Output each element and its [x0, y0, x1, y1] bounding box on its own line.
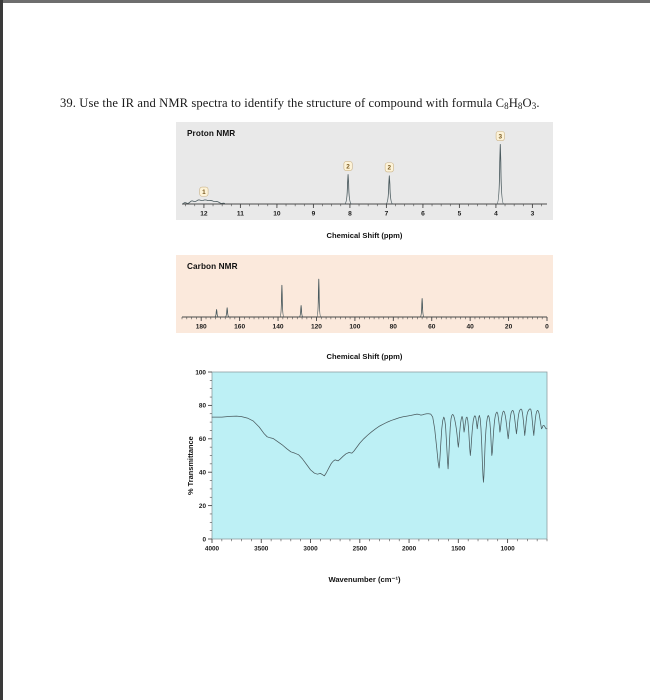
svg-text:8: 8 — [348, 211, 352, 218]
page-edge-top — [0, 0, 650, 3]
ir-yaxis-label: % Transmittance — [186, 436, 195, 495]
svg-text:1000: 1000 — [500, 546, 515, 553]
svg-text:80: 80 — [199, 403, 207, 410]
carbon-nmr-panel: Carbon NMR 180160140120100806040200 — [176, 255, 553, 333]
svg-text:40: 40 — [466, 324, 474, 331]
page-edge-left — [0, 0, 3, 700]
svg-text:11: 11 — [237, 211, 244, 218]
formula-element-h: H — [509, 96, 518, 110]
svg-text:120: 120 — [311, 324, 322, 331]
svg-text:2000: 2000 — [402, 546, 417, 553]
formula-element-c: C — [496, 96, 505, 110]
svg-text:1: 1 — [202, 189, 206, 196]
carbon-xaxis-label: Chemical Shift (ppm) — [176, 352, 553, 361]
proton-nmr-title: Proton NMR — [187, 129, 235, 138]
svg-text:10: 10 — [273, 211, 281, 218]
question-text: Use the IR and NMR spectra to identify t… — [79, 96, 492, 110]
svg-text:80: 80 — [390, 324, 398, 331]
svg-text:60: 60 — [428, 324, 436, 331]
svg-text:7: 7 — [385, 211, 389, 218]
question-number: 39. — [60, 96, 76, 110]
svg-text:60: 60 — [199, 436, 207, 443]
svg-text:4000: 4000 — [205, 546, 220, 553]
svg-text:140: 140 — [273, 324, 284, 331]
svg-text:100: 100 — [195, 369, 206, 376]
formula-element-o: O — [523, 96, 532, 110]
svg-text:20: 20 — [199, 503, 207, 510]
svg-text:6: 6 — [421, 211, 425, 218]
svg-text:3: 3 — [498, 133, 502, 140]
svg-text:0: 0 — [545, 324, 549, 331]
svg-text:4: 4 — [494, 211, 498, 218]
svg-text:1500: 1500 — [451, 546, 466, 553]
ir-spectrum-panel: 0204060801004000350030002500200015001000 — [176, 366, 553, 565]
svg-text:3: 3 — [531, 211, 535, 218]
svg-text:3000: 3000 — [303, 546, 318, 553]
question-prompt: 39. Use the IR and NMR spectra to identi… — [60, 96, 640, 111]
svg-text:9: 9 — [312, 211, 316, 218]
svg-text:180: 180 — [196, 324, 207, 331]
svg-text:2: 2 — [346, 163, 350, 170]
svg-text:160: 160 — [234, 324, 245, 331]
question-period: . — [536, 96, 539, 110]
svg-text:3500: 3500 — [254, 546, 269, 553]
svg-text:5: 5 — [458, 211, 462, 218]
proton-xaxis-label: Chemical Shift (ppm) — [176, 231, 553, 240]
molecular-formula: C8H8O3 — [496, 96, 537, 110]
svg-text:20: 20 — [505, 324, 513, 331]
svg-text:100: 100 — [349, 324, 360, 331]
svg-text:2: 2 — [388, 165, 392, 172]
svg-text:40: 40 — [199, 470, 207, 477]
svg-text:0: 0 — [202, 536, 206, 543]
svg-text:12: 12 — [200, 211, 208, 218]
ir-spectrum-plot: 0204060801004000350030002500200015001000 — [176, 366, 553, 565]
carbon-nmr-title: Carbon NMR — [187, 262, 238, 271]
proton-nmr-panel: Proton NMR 12111098765431223 — [176, 122, 553, 220]
svg-text:2500: 2500 — [353, 546, 368, 553]
ir-xaxis-label: Wavenumber (cm⁻¹) — [176, 575, 553, 584]
